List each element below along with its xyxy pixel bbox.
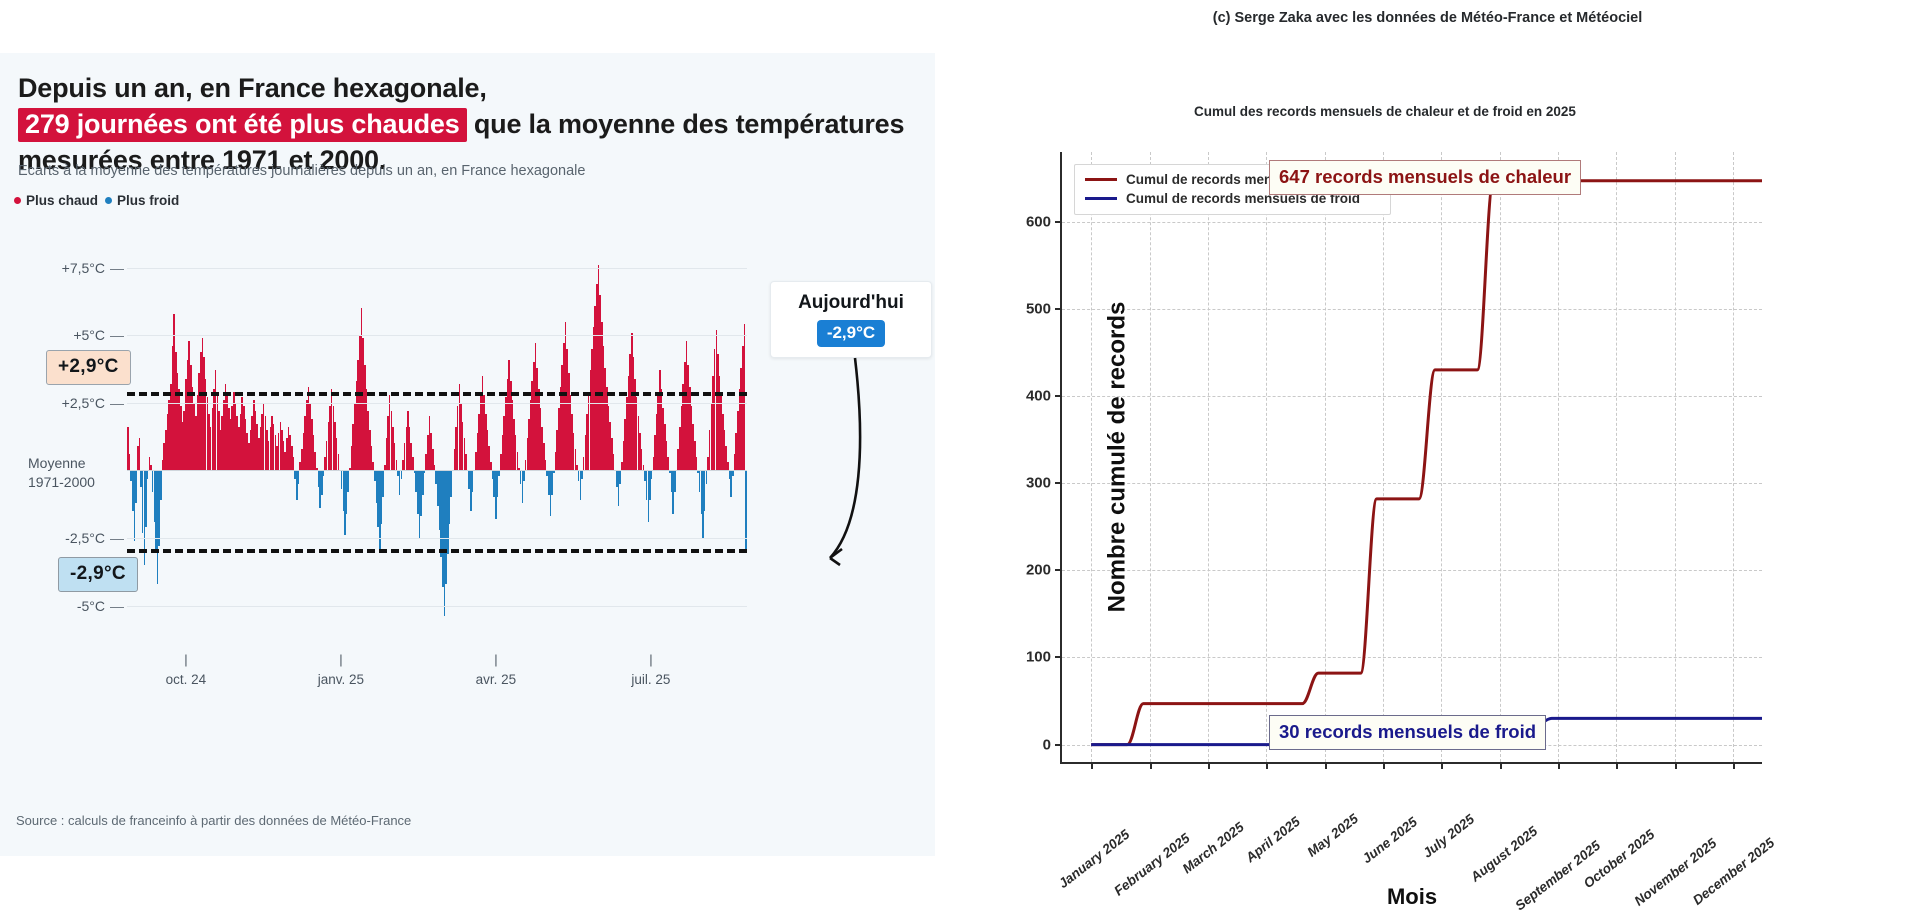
reference-line (127, 549, 747, 553)
y-tick-label: -5°C— (77, 598, 124, 614)
bar (450, 470, 452, 497)
y-tick-label: 300 (1026, 475, 1051, 492)
y-tick-mark (1055, 656, 1062, 658)
x-tick-label: October 2025 (1581, 827, 1658, 891)
bar (372, 462, 374, 470)
x-tick-label: August 2025 (1467, 823, 1539, 884)
x-tick-mark (1441, 762, 1443, 769)
reference-line (127, 392, 747, 396)
bar (581, 470, 583, 478)
bar (422, 470, 424, 494)
today-arrow-icon (730, 353, 860, 583)
y-tick-mark (1055, 395, 1062, 397)
x-tick-mark (1616, 762, 1618, 769)
bar (619, 470, 621, 484)
legend-left: Plus chaud Plus froid (14, 193, 179, 208)
bar (145, 470, 147, 527)
y-axis-title-right: Nombre cumulé de records (1103, 302, 1131, 613)
legend-label-warm: Plus chaud (26, 193, 98, 208)
y-tick-mark (1055, 482, 1062, 484)
x-tick-label: April 2025 (1243, 814, 1303, 866)
headline-pre: Depuis un an, en France hexagonale, (18, 73, 487, 103)
x-tick-mark (1675, 762, 1677, 769)
y-tick-label: 500 (1026, 300, 1051, 317)
bar (667, 457, 669, 471)
bar (293, 457, 295, 471)
serge-zaka-panel: (c) Serge Zaka avec les données de Météo… (935, 0, 1920, 917)
annotation-heat-records: 647 records mensuels de chaleur (1269, 160, 1581, 195)
y-tick-mark (1055, 744, 1062, 746)
bar (706, 470, 708, 484)
x-tick-mark (1733, 762, 1735, 769)
legend-swatch-heat-icon (1085, 178, 1117, 181)
bar-series (127, 238, 747, 638)
x-tick-label: |juil. 25 (631, 653, 670, 687)
y-tick-label: -2,5°C— (65, 530, 124, 546)
x-tick-mark (1558, 762, 1560, 769)
gridline (127, 403, 747, 404)
x-tick-mark (1325, 762, 1327, 769)
chart-subtitle: Ecarts à la moyenne des températures jou… (18, 163, 585, 179)
bar (135, 470, 137, 502)
x-tick-label: March 2025 (1179, 819, 1246, 876)
credit-line: (c) Serge Zaka avec les données de Météo… (935, 10, 1920, 26)
y-tick-mark (1055, 221, 1062, 223)
bar (613, 454, 615, 470)
x-tick-mark (1383, 762, 1385, 769)
x-tick-label: July 2025 (1420, 811, 1477, 860)
bar (382, 470, 384, 497)
plot-area-left (127, 238, 747, 638)
y-tick-label: 600 (1026, 213, 1051, 230)
legend-item-warm: Plus chaud (14, 193, 98, 208)
bar (298, 470, 300, 484)
bar (160, 470, 162, 500)
gridline (127, 268, 747, 269)
gridline (127, 538, 747, 539)
today-value-badge: -2,9°C (817, 320, 885, 347)
bar (472, 470, 474, 492)
legend-label-cold: Plus froid (117, 193, 179, 208)
today-callout: Aujourd'hui -2,9°C (770, 281, 932, 358)
x-tick-mark (1208, 762, 1210, 769)
y-tick-label: 100 (1026, 649, 1051, 666)
legend-dot-warm-icon (14, 197, 21, 204)
line-path (1091, 181, 1762, 745)
bar (401, 470, 403, 478)
annotation-cold-records: 30 records mensuels de froid (1269, 715, 1546, 750)
bar (490, 462, 492, 470)
x-tick-label: |janv. 25 (318, 653, 364, 687)
x-tick-label: June 2025 (1359, 814, 1420, 866)
y-tick-mark (1055, 308, 1062, 310)
y-tick-label: +2,5°C— (62, 395, 124, 411)
legend-dot-cold-icon (105, 197, 112, 204)
bar (147, 470, 149, 478)
bar (139, 438, 141, 470)
x-tick-label: |oct. 24 (166, 653, 207, 687)
legend-swatch-cold-icon (1085, 197, 1117, 200)
gridline (127, 335, 747, 336)
x-tick-mark (1091, 762, 1093, 769)
cumulative-records-chart: 0100200300400500600 January 2025February… (1060, 152, 1762, 764)
cold-marker-badge: -2,9°C (58, 557, 138, 592)
bar (551, 470, 553, 494)
today-title: Aujourd'hui (798, 292, 904, 314)
right-chart-title: Cumul des records mensuels de chaleur et… (935, 104, 1835, 119)
x-axis-labels-left: |oct. 24|janv. 25|avr. 25|juil. 25 (127, 653, 747, 713)
source-note: Source : calculs de franceinfo à partir … (16, 813, 411, 828)
legend-item-cold: Plus froid (105, 193, 179, 208)
x-tick-mark (1266, 762, 1268, 769)
x-tick-mark (1500, 762, 1502, 769)
headline-highlight: 279 journées ont été plus chaudes (18, 108, 467, 142)
y-tick-label: +7,5°C— (62, 260, 124, 276)
bar (338, 454, 340, 470)
y-tick-mark (1055, 569, 1062, 571)
baseline-label: Moyenne 1971-2000 (28, 454, 95, 492)
bar (727, 462, 729, 470)
x-tick-label: May 2025 (1304, 811, 1361, 860)
y-tick-label: 400 (1026, 388, 1051, 405)
bar (545, 460, 547, 471)
bar (347, 470, 349, 492)
x-tick-label: |avr. 25 (476, 653, 517, 687)
warm-marker-badge: +2,9°C (46, 350, 131, 385)
bar (696, 457, 698, 471)
bar (674, 470, 676, 492)
bar (465, 454, 467, 470)
bar (651, 470, 653, 478)
zero-baseline (127, 470, 747, 471)
bar (523, 470, 525, 481)
x-axis-title-right: Mois (1062, 884, 1762, 910)
bar (396, 460, 398, 471)
y-tick-label: 0 (1043, 736, 1051, 753)
line-series (1062, 152, 1762, 762)
y-tick-label: +5°C— (73, 327, 124, 343)
bar (129, 454, 131, 470)
franceinfo-panel: Depuis un an, en France hexagonale, 279 … (0, 53, 935, 856)
y-tick-label: 200 (1026, 562, 1051, 579)
x-tick-mark (1150, 762, 1152, 769)
gridline (127, 606, 747, 607)
bar (412, 457, 414, 471)
